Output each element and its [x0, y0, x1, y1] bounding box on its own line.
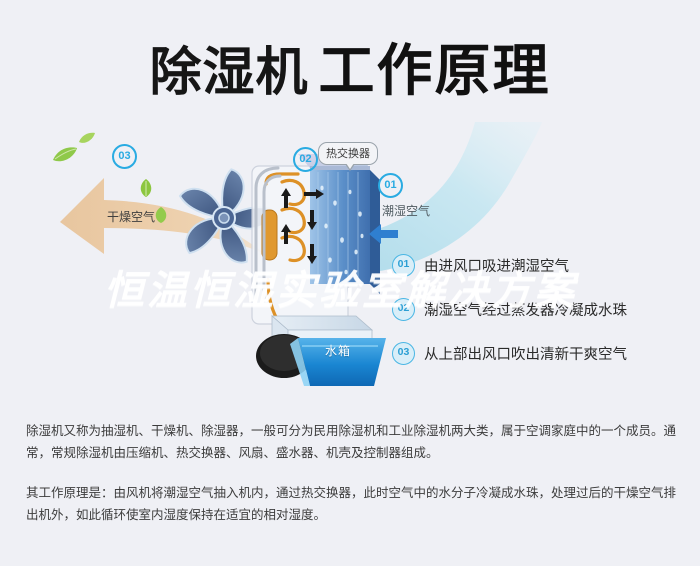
list-item: 03 从上部出风口吹出清新干爽空气: [392, 338, 692, 369]
step-text-02: 潮湿空气经过蒸发器冷凝成水珠: [424, 299, 627, 320]
step-badge-02: 02: [392, 298, 415, 321]
page-root: 除湿机工作原理: [0, 0, 700, 566]
page-title-part1: 除湿机: [149, 43, 308, 103]
list-item: 01 由进风口吸进潮湿空气: [392, 250, 692, 281]
badge-01: 01: [378, 173, 403, 198]
step-text-03: 从上部出风口吹出清新干爽空气: [424, 343, 627, 364]
list-item: 02 潮湿空气经过蒸发器冷凝成水珠: [392, 294, 692, 325]
badge-02: 02: [293, 147, 318, 172]
label-humid-air: 潮湿空气: [382, 202, 430, 219]
step-badge-01: 01: [392, 254, 415, 277]
leaf-icon: [154, 206, 169, 224]
page-title: 除湿机工作原理: [0, 26, 700, 107]
step-badge-03: 03: [392, 342, 415, 365]
page-title-part2: 工作原理: [319, 39, 551, 104]
paragraph-1: 除湿机又称为抽湿机、干燥机、除湿器，一般可分为民用除湿机和工业除湿机两大类，属于…: [26, 420, 676, 464]
paragraph-2: 其工作原理是：由风机将潮湿空气抽入机内，通过热交换器，此时空气中的水分子冷凝成水…: [26, 482, 676, 526]
dehumidifier-unit-icon: [238, 148, 398, 388]
leaf-icon: [52, 146, 78, 164]
steps-list: 01 由进风口吸进潮湿空气 02 潮湿空气经过蒸发器冷凝成水珠 03 从上部出风…: [392, 250, 692, 382]
body-copy: 除湿机又称为抽湿机、干燥机、除湿器，一般可分为民用除湿机和工业除湿机两大类，属于…: [26, 420, 676, 544]
callout-heat-exchanger: 热交换器: [318, 142, 378, 165]
label-dry-air: 干燥空气: [107, 208, 155, 225]
leaf-icon: [138, 178, 154, 198]
label-water-tank: 水箱: [325, 342, 351, 359]
badge-03: 03: [112, 144, 137, 169]
leaf-icon: [78, 132, 96, 145]
step-text-01: 由进风口吸进潮湿空气: [424, 255, 569, 276]
